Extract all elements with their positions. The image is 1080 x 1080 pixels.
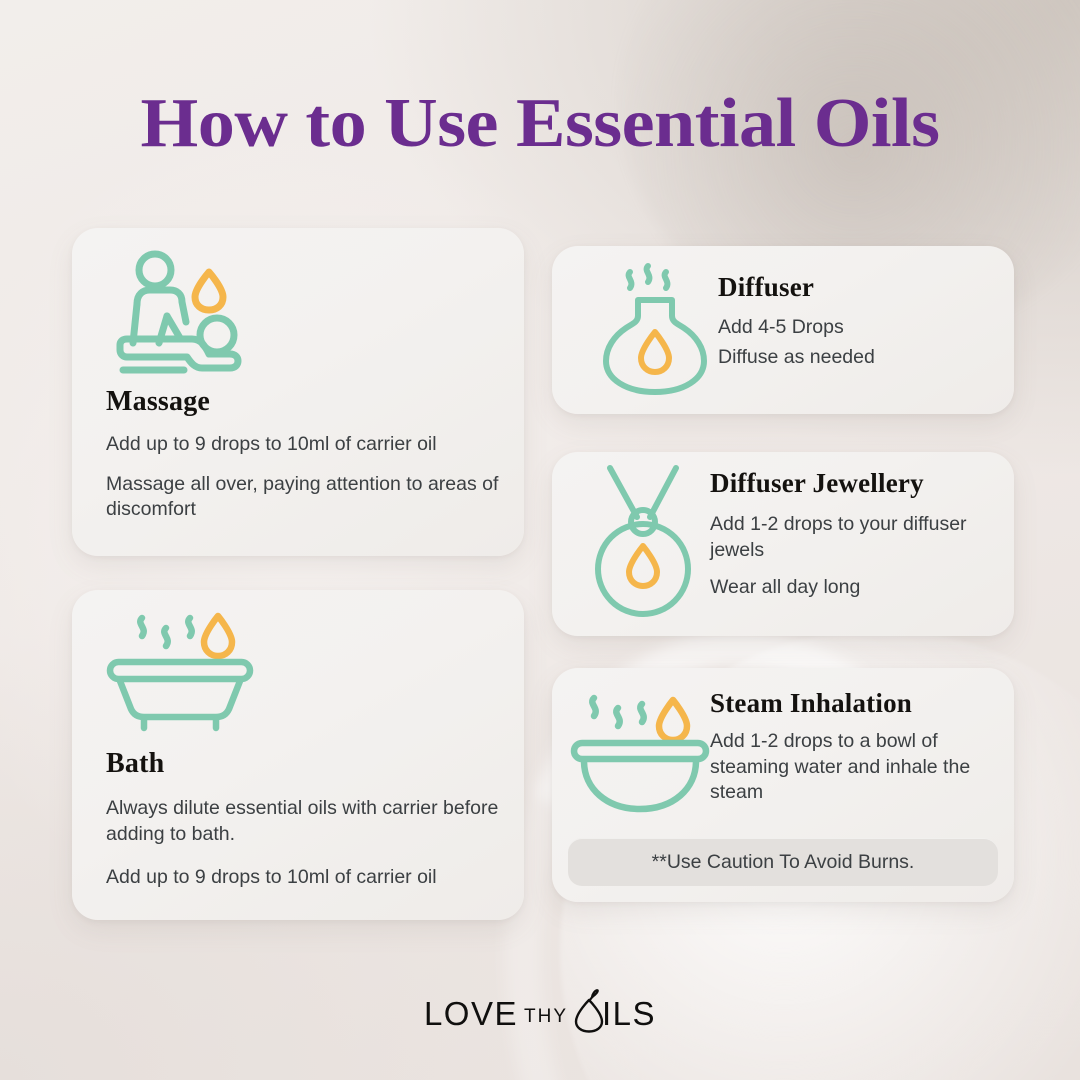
card-jewellery[interactable]: Diffuser Jewellery Add 1-2 drops to your… [552, 452, 1014, 636]
oil-drop-icon [195, 272, 223, 310]
massage-table-icon [106, 250, 256, 383]
steam-text-block: Steam Inhalation Add 1-2 drops to a bowl… [710, 688, 1002, 806]
steaming-bowl-icon [566, 690, 716, 820]
oil-drop-icon [629, 546, 657, 586]
steam-squiggles [592, 698, 643, 726]
bath-text-block: Bath Always dilute essential oils with c… [106, 748, 506, 891]
diffuser-text-block: Diffuser Add 4-5 Drops Diffuse as needed [718, 272, 996, 374]
bath-line-1: Always dilute essential oils with carrie… [106, 796, 506, 847]
cards-grid: Massage Add up to 9 drops to 10ml of car… [0, 0, 1080, 1080]
oil-drop-icon [641, 332, 669, 372]
oil-drop-icon [204, 616, 232, 656]
card-bath[interactable]: Bath Always dilute essential oils with c… [72, 590, 524, 920]
necklace-pendant-icon [582, 460, 707, 630]
steam-heading: Steam Inhalation [710, 688, 1002, 719]
bath-heading: Bath [106, 748, 506, 780]
logo-text-ils: ILS [602, 995, 656, 1033]
massage-text-block: Massage Add up to 9 drops to 10ml of car… [106, 386, 500, 523]
oil-drop-icon [659, 700, 687, 740]
bath-line-2: Add up to 9 drops to 10ml of carrier oil [106, 865, 506, 891]
diffuser-line-1: Add 4-5 Drops [718, 315, 996, 341]
diffuser-heading: Diffuser [718, 272, 996, 303]
logo-text-love: LOVE [424, 995, 518, 1033]
steam-line-1: Add 1-2 drops to a bowl of steaming wate… [710, 729, 1002, 806]
bathtub-icon [100, 602, 260, 737]
jewellery-line-1: Add 1-2 drops to your diffuser jewels [710, 512, 1000, 563]
card-massage[interactable]: Massage Add up to 9 drops to 10ml of car… [72, 228, 524, 556]
brand-logo: LOVE THY ILS [0, 989, 1080, 1038]
steam-squiggles [140, 618, 191, 646]
massage-line-1: Add up to 9 drops to 10ml of carrier oil [106, 432, 500, 458]
steam-squiggles [629, 266, 668, 288]
card-diffuser[interactable]: Diffuser Add 4-5 Drops Diffuse as needed [552, 246, 1014, 414]
jewellery-line-2: Wear all day long [710, 575, 1000, 601]
caution-banner: **Use Caution To Avoid Burns. [568, 838, 998, 886]
massage-line-2: Massage all over, paying attention to ar… [106, 472, 500, 523]
diffuser-icon [600, 260, 710, 405]
jewellery-text-block: Diffuser Jewellery Add 1-2 drops to your… [710, 468, 1000, 601]
infographic-page: How to Use Essential Oils [0, 0, 1080, 1080]
diffuser-line-2: Diffuse as needed [718, 345, 996, 371]
caution-text: **Use Caution To Avoid Burns. [652, 851, 915, 874]
card-steam[interactable]: Steam Inhalation Add 1-2 drops to a bowl… [552, 668, 1014, 902]
jewellery-heading: Diffuser Jewellery [710, 468, 1000, 499]
logo-text-thy: THY [524, 1006, 568, 1028]
massage-heading: Massage [106, 386, 500, 418]
